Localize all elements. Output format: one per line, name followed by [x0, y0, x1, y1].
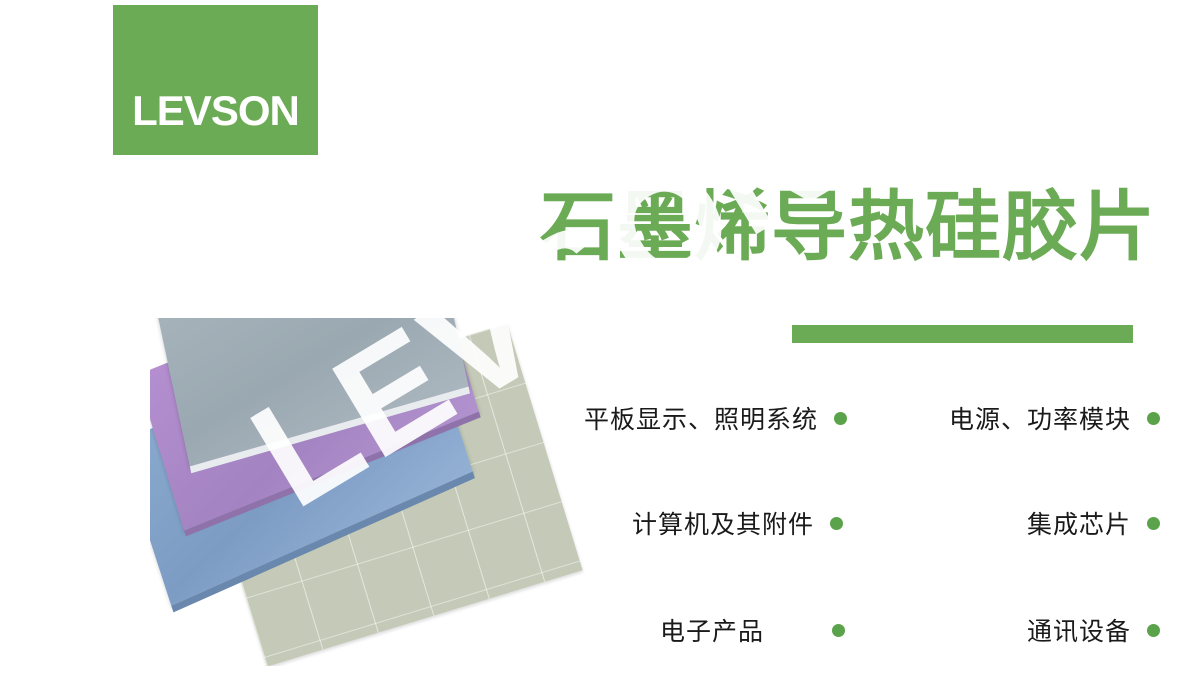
brand-logo: LEVSON	[113, 5, 318, 155]
application-list: 平板显示、照明系统 电源、功率模块 计算机及其附件 集成芯片 电子产品	[560, 400, 1160, 670]
application-label: 集成芯片	[1027, 505, 1131, 541]
title-underline-bar	[792, 325, 1133, 343]
application-item: 通讯设备	[1027, 612, 1160, 648]
application-label: 计算机及其附件	[632, 505, 814, 541]
application-row: 计算机及其附件 集成芯片	[560, 505, 1160, 541]
page-title: 石墨烯导热硅胶片	[540, 186, 1140, 268]
application-label: 电子产品	[660, 612, 764, 648]
application-row: 电子产品 通讯设备	[560, 612, 1160, 648]
bullet-dot-icon	[832, 624, 845, 637]
bullet-dot-icon	[1147, 624, 1160, 637]
application-label: 通讯设备	[1027, 612, 1131, 648]
slide-canvas: LEVSON 石墨烯导热硅胶片 LEVSON 平板显示、照明系统 电源、功率模块	[0, 0, 1182, 681]
product-photo	[150, 318, 605, 666]
application-label: 电源、功率模块	[949, 400, 1131, 436]
brand-logo-text: LEVSON	[113, 90, 318, 132]
application-label: 平板显示、照明系统	[584, 400, 818, 436]
application-row: 平板显示、照明系统 电源、功率模块	[560, 400, 1160, 436]
bullet-dot-icon	[1147, 412, 1160, 425]
bullet-dot-icon	[834, 412, 847, 425]
bullet-dot-icon	[830, 517, 843, 530]
application-item: 集成芯片	[1027, 505, 1160, 541]
application-item: 计算机及其附件	[632, 505, 843, 541]
bullet-dot-icon	[1147, 517, 1160, 530]
application-item: 电子产品	[660, 612, 845, 648]
application-item: 平板显示、照明系统	[584, 400, 847, 436]
application-item: 电源、功率模块	[949, 400, 1160, 436]
